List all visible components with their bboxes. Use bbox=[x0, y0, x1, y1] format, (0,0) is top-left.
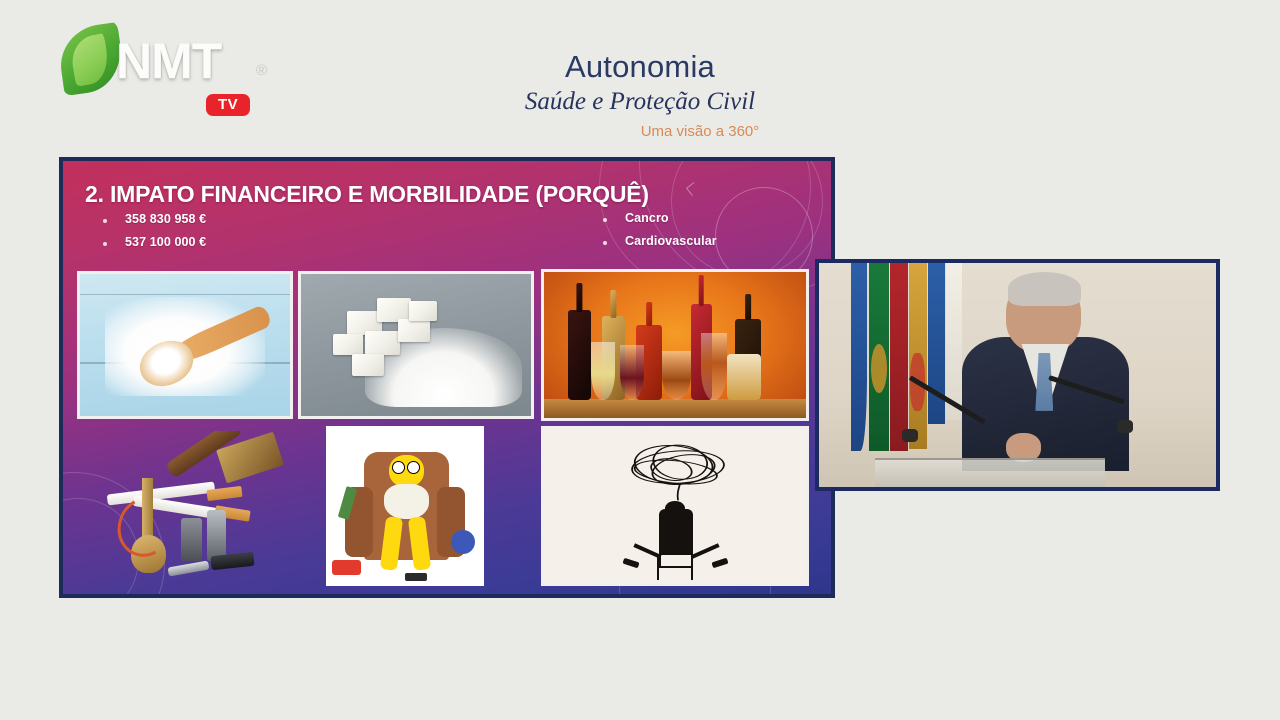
program-title: Autonomia Saúde e Proteção Civil Uma vis… bbox=[380, 50, 900, 140]
registered-trademark-icon: ® bbox=[256, 62, 267, 79]
flag-red bbox=[890, 263, 907, 451]
bullet-item: 537 100 000 € bbox=[103, 235, 206, 249]
brand-logo: NMT ® TV bbox=[56, 24, 286, 98]
presentation-slide: 2. IMPATO FINANCEIRO E MORBILIDADE (PORQ… bbox=[59, 157, 835, 598]
speaker-hair bbox=[1008, 272, 1081, 306]
microphone-head-icon bbox=[902, 429, 918, 442]
flag-blue bbox=[851, 263, 868, 451]
program-title-main: Autonomia bbox=[380, 50, 900, 85]
slide-image-stress bbox=[541, 426, 809, 586]
bullet-label: 537 100 000 € bbox=[125, 235, 206, 249]
bullet-item: 358 830 958 € bbox=[103, 212, 206, 226]
speaker-video-overlay[interactable] bbox=[815, 259, 1220, 491]
slide-title: 2. IMPATO FINANCEIRO E MORBILIDADE (PORQ… bbox=[85, 181, 649, 208]
program-title-tagline: Uma visão a 360° bbox=[380, 123, 900, 140]
flag-white bbox=[946, 263, 962, 420]
podium bbox=[875, 458, 1105, 487]
slide-bullets-left: 358 830 958 € 537 100 000 € bbox=[103, 212, 206, 258]
bullet-dot-icon bbox=[103, 219, 107, 223]
slide-image-tobacco bbox=[77, 431, 293, 589]
slide-image-sedentary bbox=[326, 426, 484, 586]
slide-image-sugar bbox=[298, 271, 534, 419]
slide-image-salt bbox=[77, 271, 293, 419]
microphone-head-icon bbox=[1117, 420, 1133, 433]
bullet-item: Cancro bbox=[603, 211, 717, 225]
bullet-dot-icon bbox=[603, 218, 607, 222]
brand-tv-badge: TV bbox=[206, 94, 250, 116]
bullet-label: 358 830 958 € bbox=[125, 212, 206, 226]
bullet-label: Cancro bbox=[625, 211, 669, 225]
bullet-dot-icon bbox=[103, 242, 107, 246]
brand-name: NMT bbox=[116, 32, 221, 90]
bullet-item: Cardiovascular bbox=[603, 234, 717, 248]
bullet-dot-icon bbox=[603, 241, 607, 245]
slide-bullets-right: Cancro Cardiovascular bbox=[603, 211, 717, 257]
slide-image-alcohol bbox=[541, 269, 809, 421]
program-title-subtitle: Saúde e Proteção Civil bbox=[380, 86, 900, 119]
bullet-label: Cardiovascular bbox=[625, 234, 717, 248]
scribble-icon bbox=[623, 440, 733, 502]
